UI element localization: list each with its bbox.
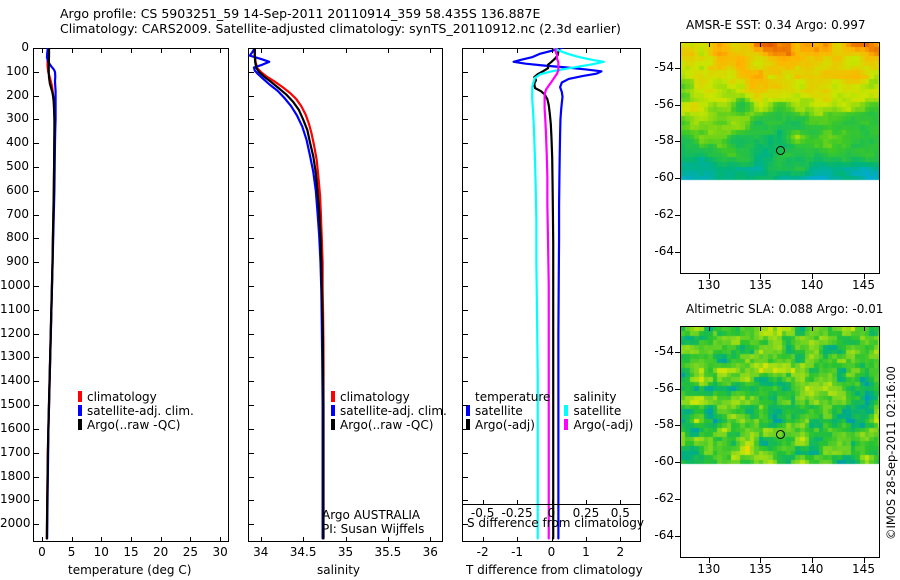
x-tick--2 xyxy=(483,537,484,542)
sla-lon-tick-top-145 xyxy=(864,326,865,331)
depth-tick-1200 xyxy=(249,334,254,335)
depth-tick-1800 xyxy=(463,477,468,478)
attribution-line-1: Argo AUSTRALIA xyxy=(322,508,424,522)
depth-tick-1700 xyxy=(34,453,39,454)
x-tick-15 xyxy=(131,537,132,542)
depth-tick-label-2000: 2000 xyxy=(0,516,29,530)
imos-credit: ©IMOS 28-Sep-2011 02:16:00 xyxy=(884,366,898,540)
legend-group-salinity: salinity satellite Argo(-adj) xyxy=(564,390,633,432)
x-tick-label-34: 34 xyxy=(241,545,281,559)
curve-satellite-adj-clim- xyxy=(250,48,323,538)
x-tick-30 xyxy=(220,537,221,542)
depth-tick-800 xyxy=(463,238,468,239)
depth-tick-500 xyxy=(249,167,254,168)
depth-tick-1400 xyxy=(34,381,39,382)
depth-tick-0 xyxy=(249,48,254,49)
curve-argo-raw-qc- xyxy=(47,48,54,538)
legend-swatch-salinity-satellite xyxy=(564,405,568,416)
depth-tick-900 xyxy=(463,262,468,263)
sla-lat-tick-label--54: -54 xyxy=(640,344,674,358)
x-tick-label-35.5: 35.5 xyxy=(368,545,408,559)
depth-tick-700 xyxy=(249,215,254,216)
sst-lat-tick-label--56: -56 xyxy=(640,97,674,111)
depth-tick-1100 xyxy=(463,310,468,311)
x-tick-top-2 xyxy=(620,48,621,53)
depth-tick-label-1100: 1100 xyxy=(0,302,29,316)
depth-tick-label-300: 300 xyxy=(0,111,29,125)
depth-tick-label-700: 700 xyxy=(0,207,29,221)
depth-tick-600 xyxy=(249,191,254,192)
depth-tick-1000 xyxy=(463,286,468,287)
sst-lat-tick--60 xyxy=(675,178,680,179)
x-tick-35 xyxy=(346,537,347,542)
sst-map xyxy=(680,42,880,274)
legend-group-temperature: temperature satellite Argo(-adj) xyxy=(466,390,550,432)
sla-lat-tick-label--58: -58 xyxy=(640,417,674,431)
depth-tick-label-100: 100 xyxy=(0,64,29,78)
attribution-block: Argo AUSTRALIA PI: Susan Wijffels xyxy=(322,508,424,536)
depth-tick-300 xyxy=(249,119,254,120)
x-tick-top-34.5 xyxy=(303,48,304,53)
legend-item-satellite-adj: satellite-adj. clim. xyxy=(331,404,447,418)
depth-tick-1900 xyxy=(249,500,254,501)
sla-lat-tick--64 xyxy=(675,536,680,537)
x-tick-top--1 xyxy=(517,48,518,53)
depth-tick-500 xyxy=(463,167,468,168)
depth-tick-label-200: 200 xyxy=(0,88,29,102)
depth-tick-600 xyxy=(34,191,39,192)
x-tick-top-15 xyxy=(131,48,132,53)
depth-tick-300 xyxy=(34,119,39,120)
title-line-1: Argo profile: CS 5903251_59 14-Sep-2011 … xyxy=(60,6,621,21)
sla-map xyxy=(680,326,880,558)
x-tick-top-36 xyxy=(430,48,431,53)
x-tick-top-20 xyxy=(161,48,162,53)
sst-lon-tick-label-145: 145 xyxy=(844,278,884,292)
depth-tick-1100 xyxy=(249,310,254,311)
x-tick--1 xyxy=(517,537,518,542)
sst-lat-tick--56 xyxy=(675,105,680,106)
depth-tick-1000 xyxy=(34,286,39,287)
legend-item-climatology: climatology xyxy=(78,390,194,404)
legend-header-temperature: temperature xyxy=(466,390,550,404)
depth-tick-1200 xyxy=(34,334,39,335)
depth-tick-1900 xyxy=(34,500,39,501)
sst-lon-tick-label-130: 130 xyxy=(689,278,729,292)
depth-tick-400 xyxy=(34,143,39,144)
depth-tick-label-500: 500 xyxy=(0,159,29,173)
s-diff-tick-0.25 xyxy=(586,500,587,504)
legend-item-temperature-argo: Argo(-adj) xyxy=(466,418,550,432)
sst-map-title: AMSR-E SST: 0.34 Argo: 0.997 xyxy=(686,18,866,32)
sst-map-canvas xyxy=(681,43,879,273)
depth-tick-700 xyxy=(34,215,39,216)
depth-tick-1800 xyxy=(34,477,39,478)
depth-tick-800 xyxy=(249,238,254,239)
sla-lon-tick-label-140: 140 xyxy=(792,562,832,576)
depth-tick-100 xyxy=(34,72,39,73)
depth-tick-1500 xyxy=(463,405,468,406)
curve-salinity-satellite xyxy=(532,48,604,538)
sst-lat-tick-label--60: -60 xyxy=(640,170,674,184)
sla-lon-tick-label-145: 145 xyxy=(844,562,884,576)
temperature-curves xyxy=(33,48,229,542)
depth-tick-0 xyxy=(463,48,468,49)
x-tick-top-10 xyxy=(101,48,102,53)
sst-lon-tick-label-140: 140 xyxy=(792,278,832,292)
x-tick-label-30: 30 xyxy=(200,545,240,559)
depth-tick-1400 xyxy=(463,381,468,382)
sst-lat-tick-label--58: -58 xyxy=(640,133,674,147)
depth-tick-1300 xyxy=(463,357,468,358)
depth-tick-400 xyxy=(463,143,468,144)
x-tick-10 xyxy=(101,537,102,542)
depth-tick-1600 xyxy=(463,429,468,430)
x-tick-36 xyxy=(430,537,431,542)
legend-swatch-climatology xyxy=(331,391,335,402)
x-tick-top-30 xyxy=(220,48,221,53)
sst-lat-tick-label--64: -64 xyxy=(640,244,674,258)
s-diff-tick--0.5 xyxy=(483,500,484,504)
sla-lat-tick-label--62: -62 xyxy=(640,491,674,505)
legend-item-argo: Argo(..raw -QC) xyxy=(78,418,194,432)
x-tick-label-36: 36 xyxy=(410,545,450,559)
depth-tick-1500 xyxy=(249,405,254,406)
legend-swatch-climatology xyxy=(78,391,82,402)
salinity-legend: climatology satellite-adj. clim. Argo(..… xyxy=(331,390,447,432)
page-title: Argo profile: CS 5903251_59 14-Sep-2011 … xyxy=(60,6,621,36)
depth-tick-900 xyxy=(34,262,39,263)
legend-item-salinity-satellite: satellite xyxy=(564,404,633,418)
depth-tick-0 xyxy=(34,48,39,49)
x-tick-label-34.5: 34.5 xyxy=(283,545,323,559)
sla-lat-tick-label--60: -60 xyxy=(640,454,674,468)
sla-lat-tick--54 xyxy=(675,352,680,353)
legend-header-salinity: salinity xyxy=(564,390,633,404)
depth-tick-2000 xyxy=(249,524,254,525)
depth-tick-1600 xyxy=(34,429,39,430)
depth-tick-label-0: 0 xyxy=(0,40,29,54)
x-tick-top--2 xyxy=(483,48,484,53)
sla-map-canvas xyxy=(681,327,879,557)
title-line-2: Climatology: CARS2009. Satellite-adjuste… xyxy=(60,21,621,36)
x-tick-top-0 xyxy=(552,48,553,53)
s-diff-tick-0.5 xyxy=(620,500,621,504)
x-tick-1 xyxy=(586,537,587,542)
x-tick-top-1 xyxy=(586,48,587,53)
depth-tick-label-1200: 1200 xyxy=(0,326,29,340)
legend-item-salinity-argo: Argo(-adj) xyxy=(564,418,633,432)
s-diff-tick-label-0.5: 0.5 xyxy=(598,506,642,520)
x-tick-top-5 xyxy=(72,48,73,53)
x-tick-20 xyxy=(161,537,162,542)
legend-swatch-temperature-satellite xyxy=(466,405,470,416)
sla-lat-tick--60 xyxy=(675,462,680,463)
legend-swatch-satellite-adj xyxy=(78,405,82,416)
legend-swatch-argo xyxy=(331,419,335,430)
depth-tick-1600 xyxy=(249,429,254,430)
depth-tick-label-1300: 1300 xyxy=(0,349,29,363)
sst-lon-tick-top-135 xyxy=(760,42,761,47)
depth-tick-200 xyxy=(463,96,468,97)
legend-swatch-argo xyxy=(78,419,82,430)
depth-tick-200 xyxy=(249,96,254,97)
sla-lon-tick-top-140 xyxy=(812,326,813,331)
temperature-difference-axis-label: T difference from climatology xyxy=(466,563,643,577)
salinity-curves xyxy=(248,48,443,542)
depth-tick-100 xyxy=(249,72,254,73)
sst-lat-tick-label--62: -62 xyxy=(640,207,674,221)
s-diff-tick-0 xyxy=(552,500,553,504)
s-diff-tick--0.25 xyxy=(517,500,518,504)
curve-temperature-satellite xyxy=(514,48,602,538)
legend-swatch-salinity-argo xyxy=(564,419,568,430)
difference-curves xyxy=(462,48,641,542)
depth-tick-1200 xyxy=(463,334,468,335)
depth-tick-500 xyxy=(34,167,39,168)
legend-item-argo: Argo(..raw -QC) xyxy=(331,418,447,432)
salinity-difference-axis-line xyxy=(462,504,641,505)
sla-lat-tick--62 xyxy=(675,499,680,500)
x-tick-34.5 xyxy=(303,537,304,542)
sst-lon-tick-top-145 xyxy=(864,42,865,47)
x-tick-2 xyxy=(620,537,621,542)
legend-item-climatology: climatology xyxy=(331,390,447,404)
depth-tick-label-1600: 1600 xyxy=(0,421,29,435)
attribution-line-2: PI: Susan Wijffels xyxy=(322,522,424,536)
x-tick-label-2: 2 xyxy=(600,545,640,559)
sla-map-title: Altimetric SLA: 0.088 Argo: -0.01 xyxy=(686,302,883,316)
x-tick-label-35: 35 xyxy=(326,545,366,559)
depth-tick-1500 xyxy=(34,405,39,406)
depth-tick-2000 xyxy=(34,524,39,525)
sla-lat-tick--58 xyxy=(675,425,680,426)
x-tick-top-0 xyxy=(42,48,43,53)
depth-tick-300 xyxy=(463,119,468,120)
depth-tick-label-600: 600 xyxy=(0,183,29,197)
curve-argo-raw-qc- xyxy=(255,48,324,538)
sst-lon-tick-top-130 xyxy=(709,42,710,47)
sst-lon-tick-label-135: 135 xyxy=(740,278,780,292)
sla-lat-tick--56 xyxy=(675,389,680,390)
difference-legend: temperature satellite Argo(-adj) salinit… xyxy=(466,390,646,432)
depth-tick-900 xyxy=(249,262,254,263)
sst-lat-tick--58 xyxy=(675,141,680,142)
depth-tick-label-1000: 1000 xyxy=(0,278,29,292)
depth-tick-1800 xyxy=(249,477,254,478)
temperature-legend: climatology satellite-adj. clim. Argo(..… xyxy=(78,390,194,432)
sla-lon-tick-top-135 xyxy=(760,326,761,331)
sla-lon-tick-top-130 xyxy=(709,326,710,331)
depth-tick-label-800: 800 xyxy=(0,230,29,244)
x-tick-34 xyxy=(261,537,262,542)
depth-tick-label-900: 900 xyxy=(0,254,29,268)
sst-lat-tick--62 xyxy=(675,215,680,216)
x-tick-5 xyxy=(72,537,73,542)
depth-tick-label-1700: 1700 xyxy=(0,445,29,459)
depth-tick-1700 xyxy=(249,453,254,454)
sst-lat-tick--64 xyxy=(675,252,680,253)
x-tick-25 xyxy=(190,537,191,542)
legend-item-satellite-adj: satellite-adj. clim. xyxy=(78,404,194,418)
depth-tick-1400 xyxy=(249,381,254,382)
depth-tick-400 xyxy=(249,143,254,144)
sla-lon-tick-label-130: 130 xyxy=(689,562,729,576)
depth-tick-1000 xyxy=(249,286,254,287)
depth-tick-200 xyxy=(34,96,39,97)
temperature-axis-label: temperature (deg C) xyxy=(68,563,191,577)
legend-item-temperature-satellite: satellite xyxy=(466,404,550,418)
x-tick-0 xyxy=(552,537,553,542)
x-tick-top-34 xyxy=(261,48,262,53)
depth-tick-2000 xyxy=(463,524,468,525)
depth-tick-1900 xyxy=(463,500,468,501)
depth-tick-1300 xyxy=(34,357,39,358)
depth-tick-100 xyxy=(463,72,468,73)
depth-tick-800 xyxy=(34,238,39,239)
sla-lon-tick-label-135: 135 xyxy=(740,562,780,576)
depth-tick-700 xyxy=(463,215,468,216)
legend-swatch-satellite-adj xyxy=(331,405,335,416)
x-tick-0 xyxy=(42,537,43,542)
depth-tick-label-1900: 1900 xyxy=(0,492,29,506)
salinity-axis-label: salinity xyxy=(317,563,360,577)
depth-tick-label-1400: 1400 xyxy=(0,373,29,387)
depth-tick-600 xyxy=(463,191,468,192)
x-tick-top-35.5 xyxy=(388,48,389,53)
depth-tick-1700 xyxy=(463,453,468,454)
sst-lon-tick-top-140 xyxy=(812,42,813,47)
sst-lat-tick--54 xyxy=(675,68,680,69)
depth-tick-1100 xyxy=(34,310,39,311)
sla-lat-tick-label--64: -64 xyxy=(640,528,674,542)
x-tick-top-35 xyxy=(346,48,347,53)
depth-tick-label-400: 400 xyxy=(0,135,29,149)
depth-tick-label-1800: 1800 xyxy=(0,469,29,483)
curve-climatology xyxy=(255,48,324,538)
x-tick-top-25 xyxy=(190,48,191,53)
sst-lat-tick-label--54: -54 xyxy=(640,60,674,74)
depth-tick-1300 xyxy=(249,357,254,358)
x-tick-35.5 xyxy=(388,537,389,542)
sla-lat-tick-label--56: -56 xyxy=(640,381,674,395)
depth-tick-label-1500: 1500 xyxy=(0,397,29,411)
